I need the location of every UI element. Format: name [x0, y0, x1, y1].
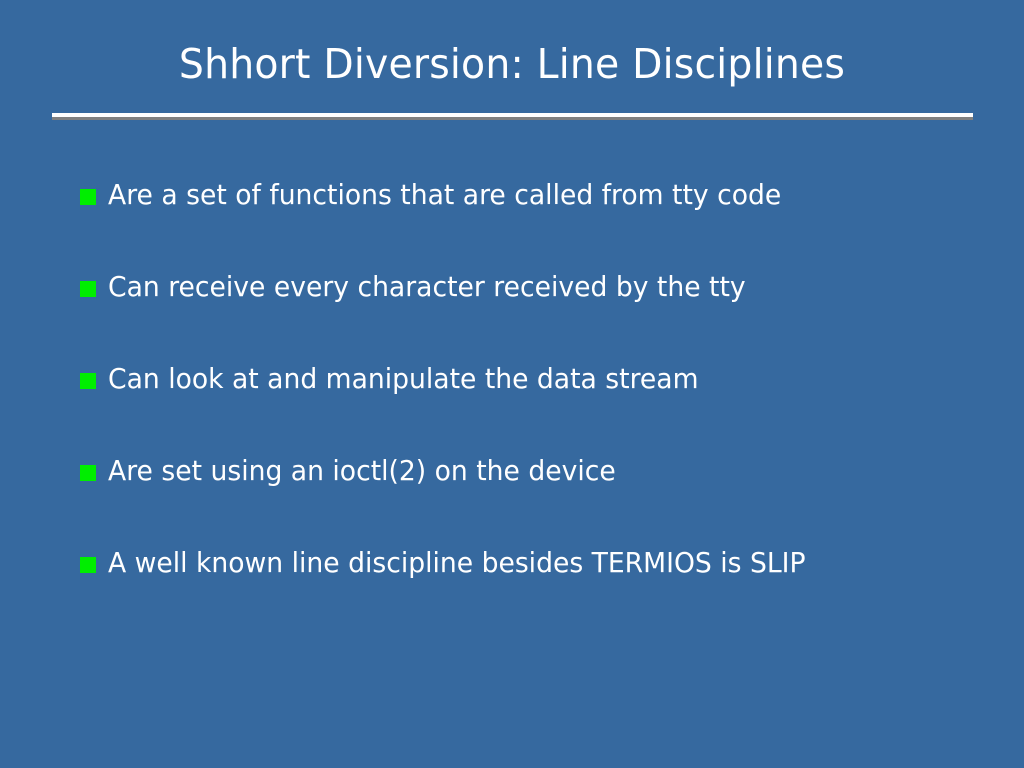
- square-bullet-icon: [80, 465, 96, 481]
- list-item: Are set using an ioctl(2) on the device: [80, 448, 980, 494]
- square-bullet-icon: [80, 281, 96, 297]
- list-item-label: Can receive every character received by …: [108, 270, 746, 304]
- list-item: Can receive every character received by …: [80, 264, 980, 310]
- list-item-label: Are set using an ioctl(2) on the device: [108, 454, 616, 488]
- list-item-label: Can look at and manipulate the data stre…: [108, 362, 699, 396]
- list-item: Can look at and manipulate the data stre…: [80, 356, 980, 402]
- bullet-list: Are a set of functions that are called f…: [80, 172, 980, 632]
- title-divider-shadow: [52, 117, 973, 120]
- title-divider: [52, 113, 973, 120]
- list-item-label: Are a set of functions that are called f…: [108, 178, 781, 212]
- list-item: A well known line discipline besides TER…: [80, 540, 980, 586]
- square-bullet-icon: [80, 189, 96, 205]
- square-bullet-icon: [80, 373, 96, 389]
- list-item-label: A well known line discipline besides TER…: [108, 546, 806, 580]
- square-bullet-icon: [80, 557, 96, 573]
- slide-title-block: Shhort Diversion: Line Disciplines: [0, 38, 1024, 90]
- list-item: Are a set of functions that are called f…: [80, 172, 980, 218]
- page-title: Shhort Diversion: Line Disciplines: [20, 38, 1003, 90]
- presentation-slide: Shhort Diversion: Line Disciplines Are a…: [0, 0, 1024, 768]
